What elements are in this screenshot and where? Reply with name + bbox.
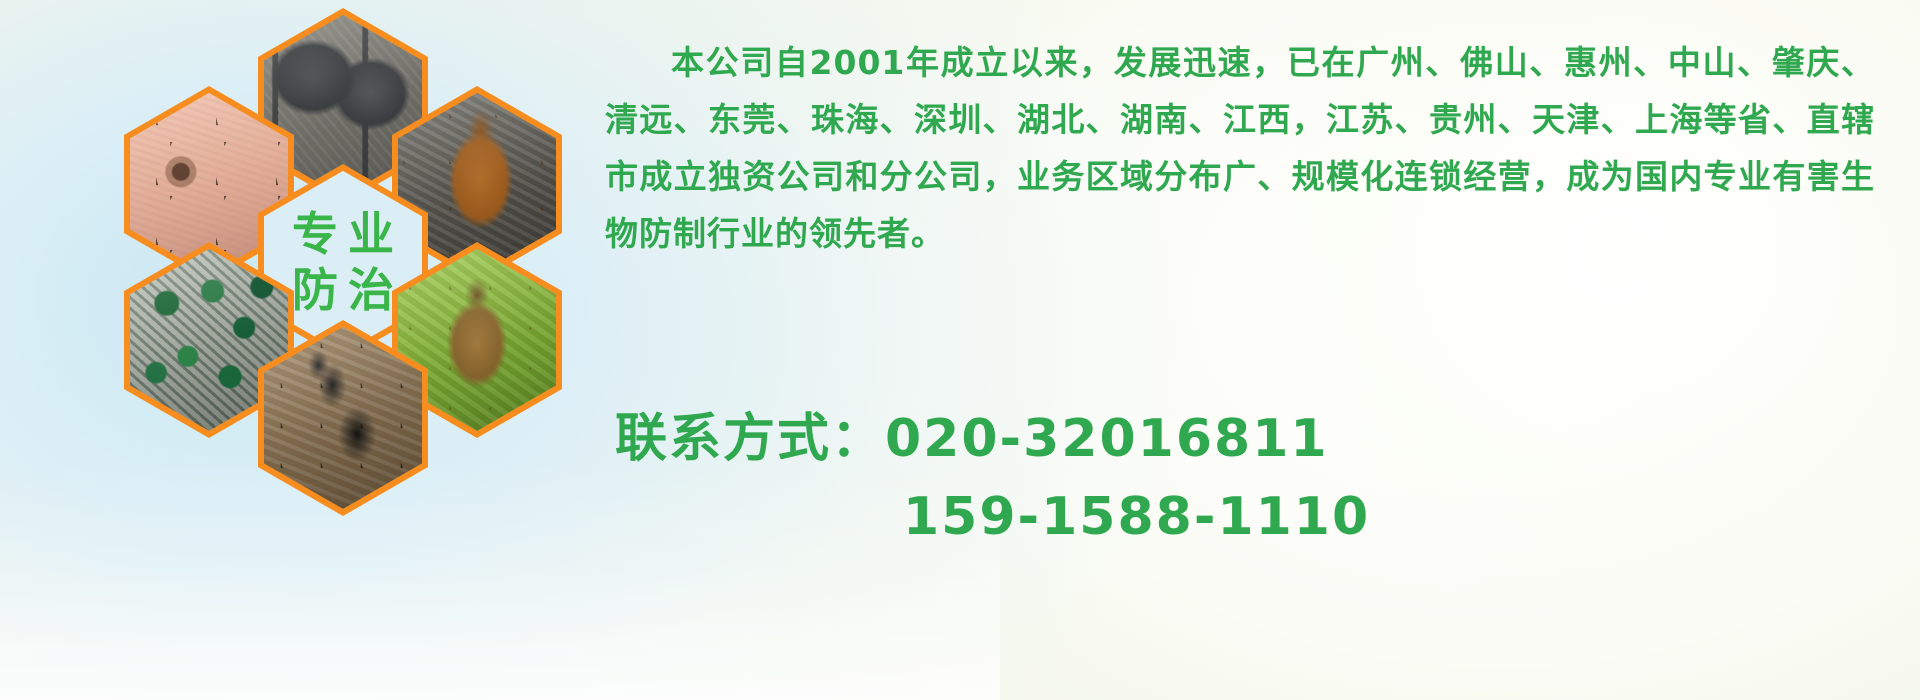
honeycomb-gallery: 专业 防治 (80, 0, 600, 580)
company-intro-paragraph: 本公司自2001年成立以来，发展迅速，已在广州、佛山、惠州、中山、肇庆、清远、东… (605, 34, 1875, 262)
contact-line-secondary[interactable]: 159-1588-1110 (615, 478, 1795, 556)
intro-copy-block: 本公司自2001年成立以来，发展迅速，已在广州、佛山、惠州、中山、肇庆、清远、东… (605, 34, 1875, 262)
contact-block: 联系方式：020-32016811 159-1588-1110 (615, 400, 1795, 556)
logo-line-2: 防治 (282, 267, 404, 313)
logo-line-1: 专业 (282, 211, 404, 257)
ant-photo (264, 327, 422, 509)
contact-line-primary[interactable]: 联系方式：020-32016811 (615, 400, 1795, 478)
